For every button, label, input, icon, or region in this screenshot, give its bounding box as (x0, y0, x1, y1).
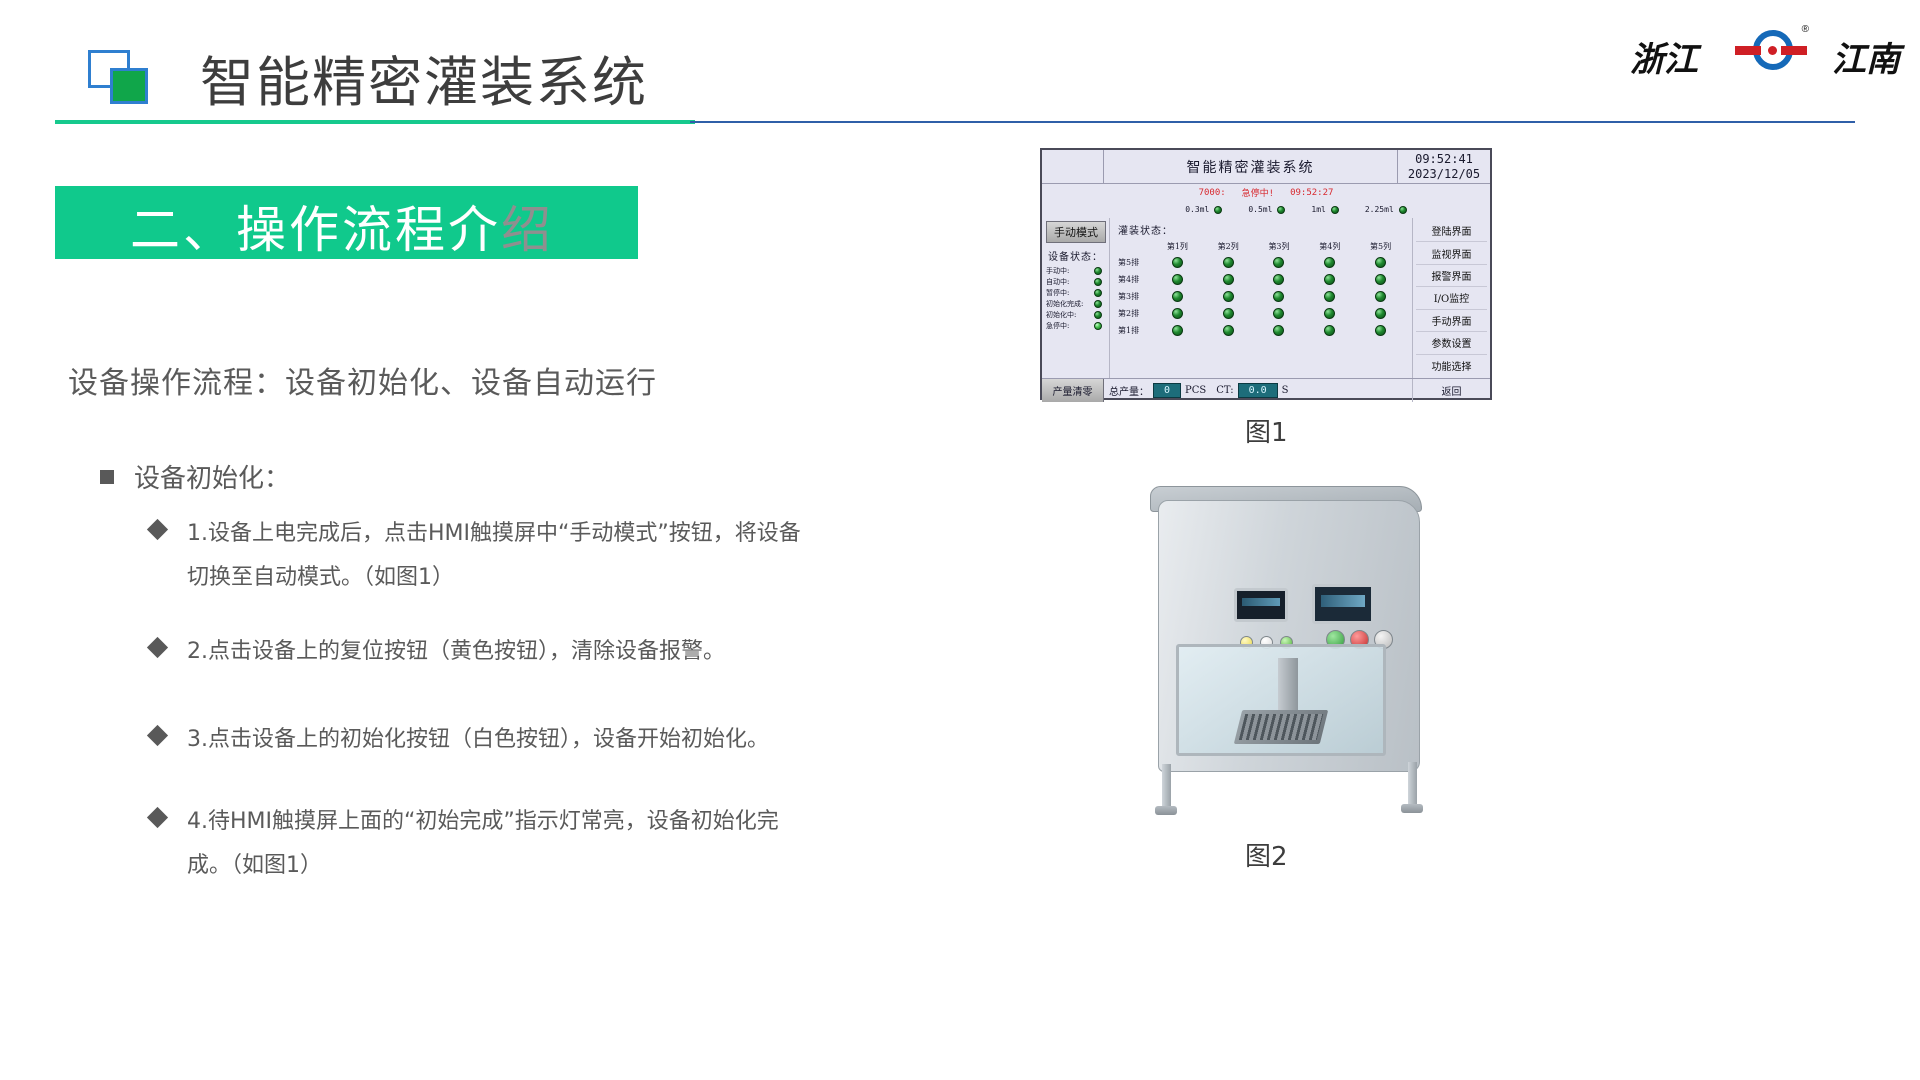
fill-led-icon (1223, 325, 1234, 336)
fill-led-icon (1273, 257, 1284, 268)
grid-row: 第1排 (1118, 325, 1406, 336)
square-bullet-icon (100, 470, 114, 484)
hmi-footer-bar: 产量清零 总产量： 0 PCS CT: 0.0 S 返回 (1042, 378, 1490, 402)
gear-emblem-icon: ® (1735, 28, 1807, 76)
grid-row: 第5排 (1118, 257, 1406, 268)
machine-foot-left (1155, 806, 1177, 815)
grid-cell (1355, 308, 1406, 319)
nav-button-manual[interactable]: 手动界面 (1416, 310, 1487, 332)
grid-cell (1254, 325, 1305, 336)
fill-led-icon (1223, 257, 1234, 268)
hmi-nav-panel: 登陆界面 监视界面 报警界面 I/O监控 手动界面 参数设置 功能选择 (1412, 218, 1490, 378)
diamond-bullet-icon (147, 807, 168, 828)
status-label: 自动中: (1046, 278, 1069, 286)
fill-led-icon (1172, 257, 1183, 268)
total-output-unit: PCS (1185, 385, 1206, 396)
grid-cell (1203, 274, 1254, 285)
list-item-text: 1.设备上电完成后，点击HMI触摸屏中“手动模式”按钮，将设备切换至自动模式。（… (187, 512, 807, 600)
grid-cell (1203, 291, 1254, 302)
fill-led-icon (1172, 291, 1183, 302)
list-item: 3.点击设备上的初始化按钮（白色按钮），设备开始初始化。 (150, 718, 769, 762)
status-led-icon (1094, 300, 1102, 308)
machine-photo (1130, 478, 1460, 818)
machine-leg-left (1162, 764, 1171, 808)
grid-cell (1355, 325, 1406, 336)
total-output-label: 总产量： (1109, 383, 1149, 398)
fill-led-icon (1172, 325, 1183, 336)
grid-cell (1254, 274, 1305, 285)
grid-cell (1304, 257, 1355, 268)
fill-led-icon (1273, 274, 1284, 285)
status-led-icon (1094, 278, 1102, 286)
clear-output-button[interactable]: 产量清零 (1042, 379, 1104, 402)
diamond-bullet-icon (147, 637, 168, 658)
status-label: 手动中: (1046, 267, 1069, 275)
hmi-volume-selector-row: 0.3ml 0.5ml 1ml 2.25ml (1042, 201, 1490, 218)
status-row: 手动中: (1046, 267, 1106, 275)
volume-option[interactable]: 2.25ml (1365, 205, 1407, 214)
grid-cell (1203, 308, 1254, 319)
machine-leg-right (1408, 762, 1417, 806)
hmi-main-area: 手动模式 设备状态： 手动中: 自动中: 暂停中: 初始化完成: (1042, 218, 1490, 378)
fill-led-icon (1273, 325, 1284, 336)
logo-solid-square (110, 68, 148, 104)
grid-row: 第2排 (1118, 308, 1406, 319)
fill-led-icon (1324, 291, 1335, 302)
fill-led-icon (1223, 291, 1234, 302)
hmi-fill-status-grid: 灌装状态： 第1列 第2列 第3列 第4列 第5列 第5排 (1110, 218, 1412, 378)
status-label: 急停中: (1046, 322, 1069, 330)
grid-cells (1152, 291, 1406, 302)
fill-led-icon (1324, 325, 1335, 336)
column-header: 第3列 (1254, 241, 1305, 252)
volume-label: 0.5ml (1248, 205, 1272, 214)
grid-cell (1152, 325, 1203, 336)
machine-secondary-display (1234, 588, 1288, 622)
back-button[interactable]: 返回 (1412, 379, 1490, 402)
grid-cell (1304, 325, 1355, 336)
hmi-title: 智能精密灌装系统 (1104, 150, 1398, 183)
list-item: 4.待HMI触摸屏上面的“初始完成”指示灯常亮，设备初始化完成。（如图1） (150, 800, 807, 888)
hmi-header-bar: 智能精密灌装系统 09:52:41 2023/12/05 (1042, 150, 1490, 184)
grid-column-headers: 第1列 第2列 第3列 第4列 第5列 (1118, 241, 1406, 252)
brand-square-logo-icon (88, 50, 150, 106)
grid-cell (1152, 257, 1203, 268)
status-row: 初始化中: (1046, 311, 1106, 319)
volume-label: 0.3ml (1185, 205, 1209, 214)
cycle-time-label: CT: (1216, 385, 1233, 396)
corp-logo-right-text: 江南 (1832, 32, 1900, 81)
grid-cells (1152, 257, 1406, 268)
row-header: 第5排 (1118, 257, 1152, 268)
status-label: 初始化中: (1046, 311, 1076, 319)
machine-hmi-display (1312, 584, 1374, 624)
nav-button-alarm[interactable]: 报警界面 (1416, 265, 1487, 287)
nav-button-login[interactable]: 登陆界面 (1416, 220, 1487, 242)
fill-led-icon (1375, 257, 1386, 268)
volume-label: 2.25ml (1365, 205, 1394, 214)
fill-led-icon (1324, 257, 1335, 268)
volume-option[interactable]: 0.5ml (1248, 205, 1285, 214)
volume-label: 1ml (1311, 205, 1325, 214)
column-header: 第1列 (1152, 241, 1203, 252)
fill-led-icon (1375, 308, 1386, 319)
volume-option[interactable]: 0.3ml (1185, 205, 1222, 214)
nav-button-function-select[interactable]: 功能选择 (1416, 355, 1487, 376)
alarm-text: 急停中! (1242, 186, 1274, 199)
bullet-level1-item: 设备初始化： (100, 458, 290, 495)
grid-row: 第3排 (1118, 291, 1406, 302)
grid-cell (1355, 257, 1406, 268)
grid-cell (1304, 274, 1355, 285)
grid-row: 第4排 (1118, 274, 1406, 285)
grid-cell (1254, 257, 1305, 268)
grid-cell (1203, 257, 1254, 268)
volume-led-icon (1214, 206, 1222, 214)
row-header: 第1排 (1118, 325, 1152, 336)
status-led-icon (1094, 267, 1102, 275)
corp-logo-left-text: 浙江 (1630, 32, 1698, 81)
grid-cell (1203, 325, 1254, 336)
grid-cell (1152, 291, 1203, 302)
fill-led-icon (1375, 325, 1386, 336)
nav-button-monitor[interactable]: 监视界面 (1416, 242, 1487, 264)
hmi-header-blank-cell (1042, 150, 1104, 183)
header-rule-green (55, 120, 695, 124)
emblem-bar-right (1781, 46, 1807, 55)
emblem-center-dot (1768, 46, 1777, 55)
fill-led-icon (1172, 308, 1183, 319)
machine-filling-head (1278, 658, 1298, 714)
manual-mode-button[interactable]: 手动模式 (1046, 221, 1106, 243)
volume-option[interactable]: 1ml (1311, 205, 1338, 214)
diamond-bullet-icon (147, 519, 168, 540)
list-item: 1.设备上电完成后，点击HMI触摸屏中“手动模式”按钮，将设备切换至自动模式。（… (150, 512, 807, 600)
header-rule-blue (690, 121, 1855, 123)
figure2-caption: 图2 (1245, 836, 1288, 873)
hmi-clock: 09:52:41 2023/12/05 (1398, 150, 1490, 183)
status-led-icon (1094, 322, 1102, 330)
alarm-time: 09:52:27 (1290, 188, 1333, 198)
fill-led-icon (1223, 308, 1234, 319)
fill-led-icon (1375, 291, 1386, 302)
corporate-logo: 浙江 ® 江南 (1630, 22, 1900, 82)
grid-cell (1152, 308, 1203, 319)
alarm-code: 7000: (1199, 188, 1226, 198)
section-title-main: 二、操作流程介 (130, 201, 501, 259)
status-row: 暂停中: (1046, 289, 1106, 297)
total-output-group: 总产量： 0 PCS (1104, 383, 1211, 398)
grid-cell (1355, 274, 1406, 285)
bullet-level1-label: 设备初始化： (134, 458, 290, 495)
volume-led-icon (1331, 206, 1339, 214)
cycle-time-value: 0.0 (1238, 383, 1278, 398)
page-title: 智能精密灌装系统 (200, 38, 648, 117)
volume-led-icon (1277, 206, 1285, 214)
slide-root: 智能精密灌装系统 浙江 ® 江南 二、操作流程介绍 设备操作流程：设备初始化、设… (0, 0, 1920, 1080)
list-item: 2.点击设备上的复位按钮（黄色按钮），清除设备报警。 (150, 630, 725, 674)
status-label: 初始化完成: (1046, 300, 1083, 308)
registered-mark: ® (1802, 24, 1809, 35)
list-item-text: 4.待HMI触摸屏上面的“初始完成”指示灯常亮，设备初始化完成。（如图1） (187, 800, 807, 888)
row-header: 第4排 (1118, 274, 1152, 285)
status-row: 初始化完成: (1046, 300, 1106, 308)
grid-cell (1152, 274, 1203, 285)
column-header: 第4列 (1304, 241, 1355, 252)
status-row: 自动中: (1046, 278, 1106, 286)
list-item-text: 3.点击设备上的初始化按钮（白色按钮），设备开始初始化。 (187, 718, 769, 762)
fill-led-icon (1223, 274, 1234, 285)
emblem-bar-left (1735, 46, 1761, 55)
list-item-text: 2.点击设备上的复位按钮（黄色按钮），清除设备报警。 (187, 630, 725, 674)
machine-vial-tray (1234, 710, 1328, 744)
column-header: 第2列 (1203, 241, 1254, 252)
fill-led-icon (1324, 308, 1335, 319)
row-header: 第2排 (1118, 308, 1152, 319)
status-led-icon (1094, 311, 1102, 319)
fill-led-icon (1273, 308, 1284, 319)
grid-cells (1152, 308, 1406, 319)
status-label: 暂停中: (1046, 289, 1069, 297)
grid-cell (1304, 291, 1355, 302)
section-title-tail: 绍 (501, 201, 554, 259)
grid-cell (1355, 291, 1406, 302)
grid-cells (1152, 325, 1406, 336)
status-row: 急停中: (1046, 322, 1106, 330)
hmi-left-panel: 手动模式 设备状态： 手动中: 自动中: 暂停中: 初始化完成: (1042, 218, 1110, 378)
column-header: 第5列 (1355, 241, 1406, 252)
fill-led-icon (1324, 274, 1335, 285)
row-header: 第3排 (1118, 291, 1152, 302)
hmi-date: 2023/12/05 (1408, 167, 1480, 182)
diamond-bullet-icon (147, 725, 168, 746)
fill-led-icon (1273, 291, 1284, 302)
hmi-alarm-banner: 7000: 急停中! 09:52:27 (1042, 184, 1490, 201)
nav-button-io-monitor[interactable]: I/O监控 (1416, 287, 1487, 309)
hmi-time: 09:52:41 (1415, 152, 1473, 167)
volume-led-icon (1399, 206, 1407, 214)
total-output-value: 0 (1153, 383, 1181, 398)
grid-cell (1254, 308, 1305, 319)
fill-led-icon (1172, 274, 1183, 285)
nav-button-parameters[interactable]: 参数设置 (1416, 332, 1487, 354)
grid-title: 灌装状态： (1118, 222, 1406, 237)
device-state-label: 设备状态： (1048, 248, 1106, 263)
grid-cells (1152, 274, 1406, 285)
lead-paragraph: 设备操作流程：设备初始化、设备自动运行 (68, 358, 657, 402)
cycle-time-unit: S (1282, 385, 1289, 396)
status-led-icon (1094, 289, 1102, 297)
fill-led-icon (1375, 274, 1386, 285)
grid-cell (1304, 308, 1355, 319)
section-title: 二、操作流程介绍 (130, 190, 554, 262)
cycle-time-group: CT: 0.0 S (1211, 383, 1293, 398)
figure1-caption: 图1 (1245, 412, 1288, 449)
machine-foot-right (1401, 804, 1423, 813)
grid-cell (1254, 291, 1305, 302)
hmi-screen: 智能精密灌装系统 09:52:41 2023/12/05 7000: 急停中! … (1040, 148, 1492, 400)
